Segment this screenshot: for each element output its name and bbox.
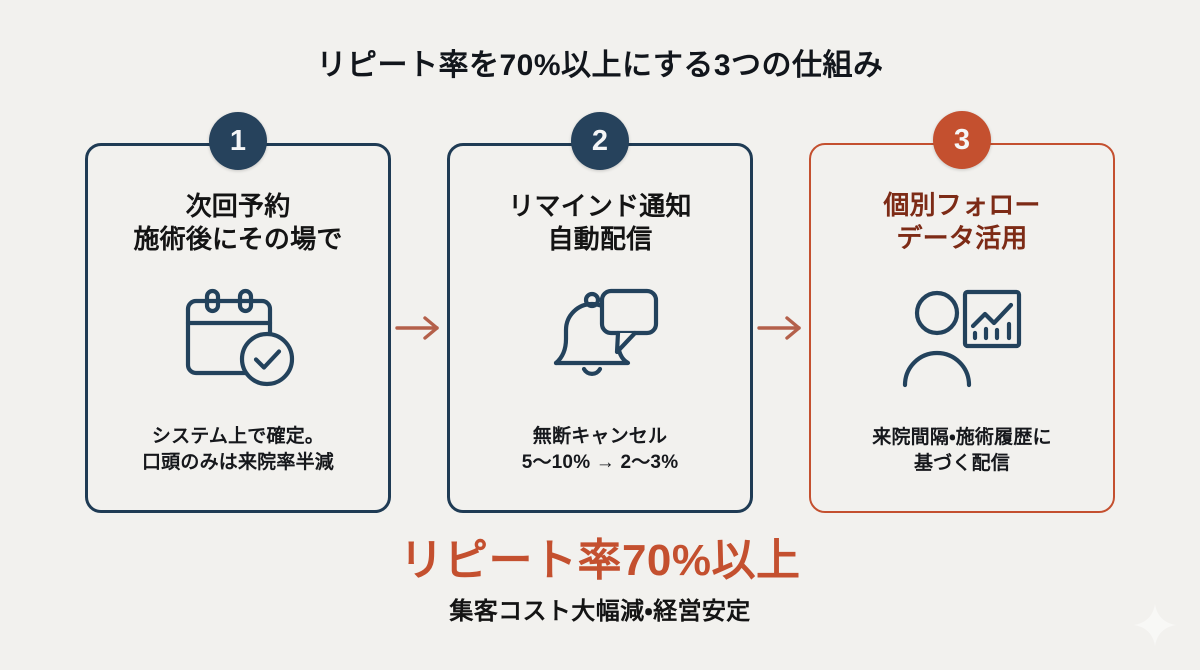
- page-title: リピート率を70%以上にする3つの仕組み: [0, 48, 1200, 84]
- step-icon-wrap-1: [88, 256, 388, 424]
- step-card-2[interactable]: 2 リマインド通知 自動配信 無断キャンセル 5〜10% → 2〜3%: [447, 143, 753, 513]
- step-number-badge-3: 3: [933, 111, 991, 169]
- step-card-3[interactable]: 3 個別フォロー データ活用 来院間隔・施術履歴に 基づく配: [809, 143, 1115, 513]
- footer-subtext: 集客コスト大幅減・経営安定: [0, 591, 1200, 626]
- step-title-2: リマインド通知 自動配信: [508, 190, 691, 256]
- step-title-1: 次回予約 施術後にその場で: [133, 190, 342, 256]
- step-note-3: 来院間隔・施術履歴に 基づく配信: [872, 425, 1051, 511]
- bell-message-icon: [540, 285, 660, 394]
- footer-summary: リピート率70%以上 集客コスト大幅減・経営安定: [0, 536, 1200, 626]
- arrow-2-to-3: [753, 143, 809, 513]
- footer-headline: リピート率70%以上: [0, 536, 1200, 585]
- person-chart-icon: [901, 286, 1023, 393]
- arrow-1-to-2: [391, 143, 447, 513]
- step-number-badge-1: 1: [209, 112, 267, 170]
- step-number-badge-2: 2: [571, 112, 629, 170]
- infographic-slide: リピート率を70%以上にする3つの仕組み 1 次回予約 施術後にその場で: [0, 0, 1200, 670]
- steps-row: 1 次回予約 施術後にその場で システム上で確定。 口頭のみは来院率半減: [0, 143, 1200, 518]
- calendar-check-icon: [180, 285, 296, 394]
- step-title-3: 個別フォロー データ活用: [883, 189, 1040, 255]
- step-icon-wrap-2: [450, 256, 750, 424]
- step-note-1: システム上で確定。 口頭のみは来院率半減: [142, 424, 334, 510]
- step-icon-wrap-3: [811, 255, 1113, 425]
- step-note-2: 無断キャンセル 5〜10% → 2〜3%: [522, 424, 679, 510]
- step-card-1[interactable]: 1 次回予約 施術後にその場で システム上で確定。 口頭のみは来院率半減: [85, 143, 391, 513]
